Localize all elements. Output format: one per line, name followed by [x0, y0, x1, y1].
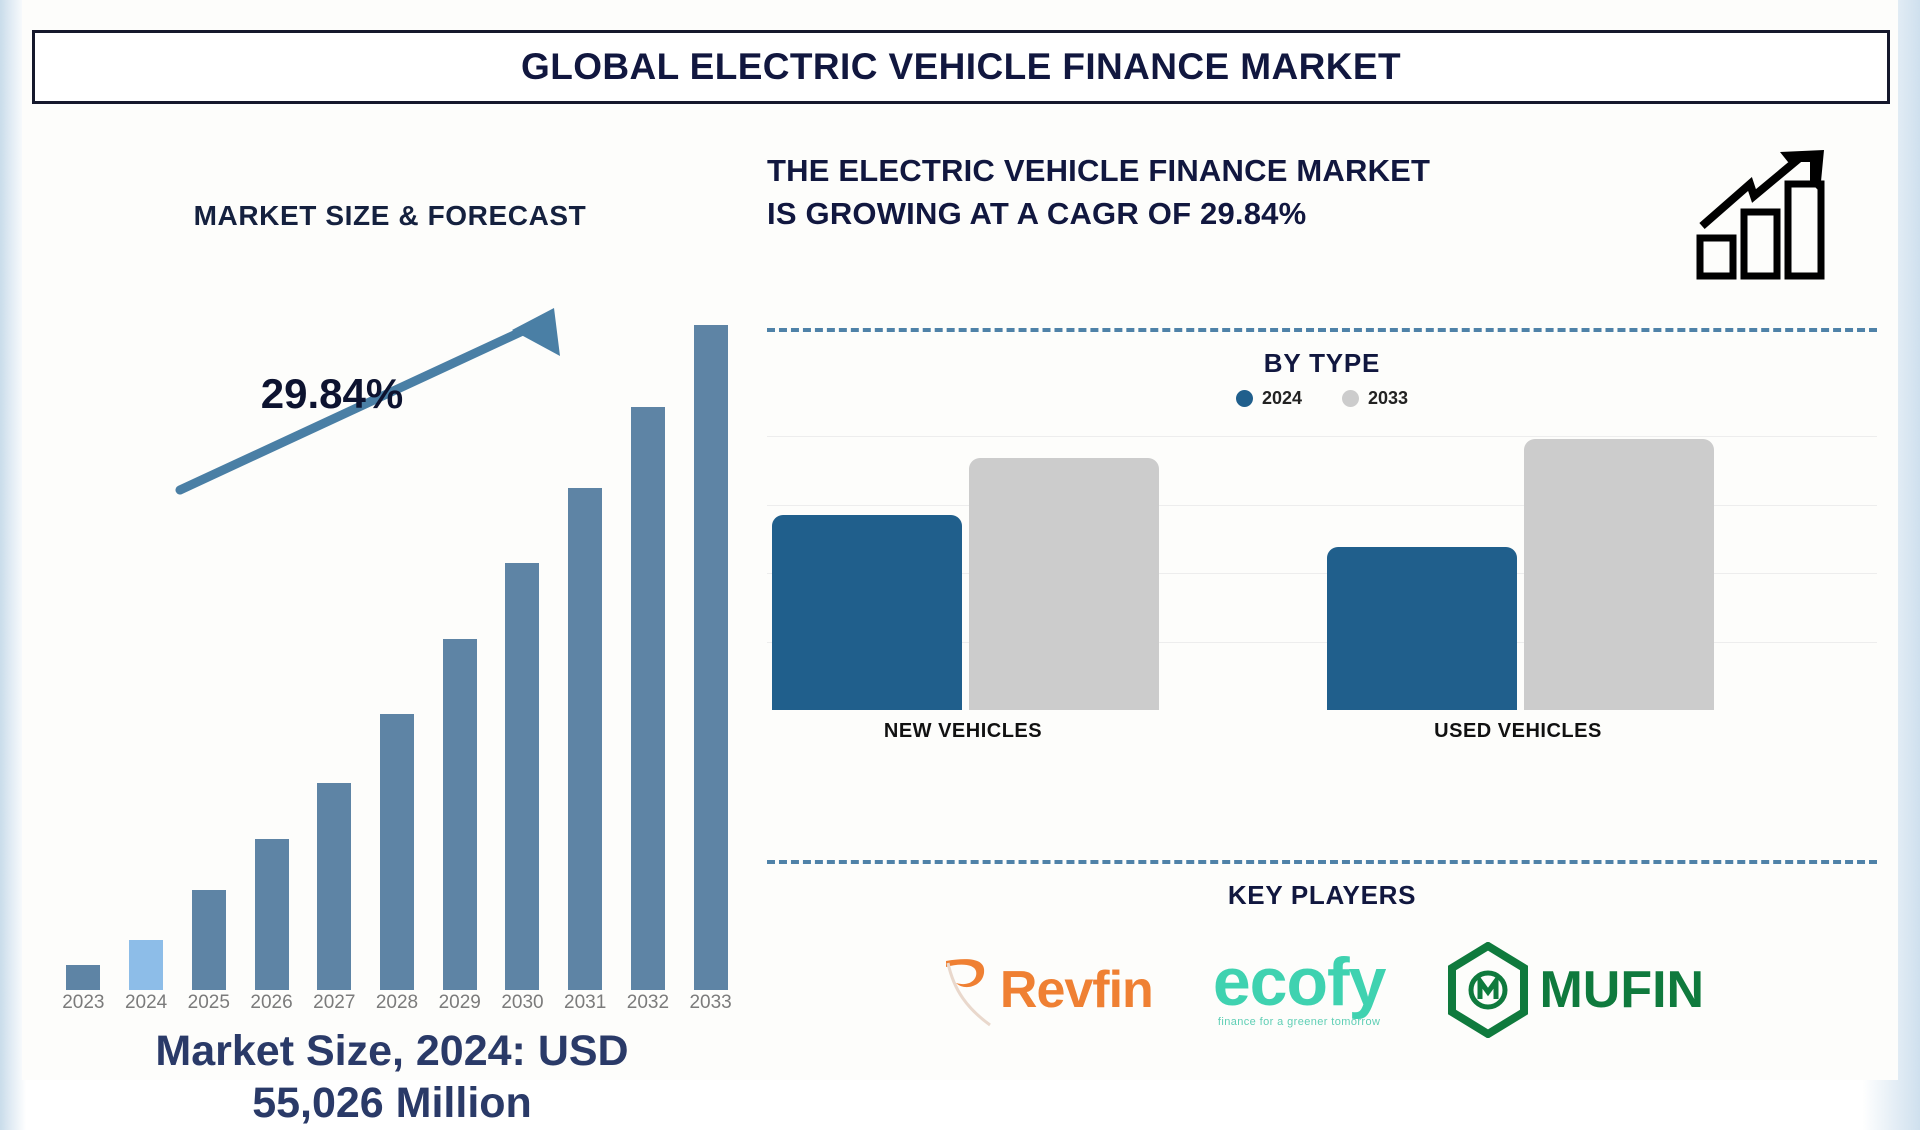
- forecast-year-axis: 2023202420252026202720282029203020312032…: [52, 992, 742, 1022]
- legend-label: 2024: [1262, 388, 1302, 409]
- legend-dot-2024: [1236, 390, 1253, 407]
- legend-item-2024[interactable]: 2024: [1236, 388, 1302, 409]
- forecast-bar-2032: [631, 407, 665, 990]
- year-label-2031: 2031: [557, 992, 613, 1014]
- by-type-bar-used-vehicles-2024: [1327, 547, 1517, 710]
- forecast-bar-2029: [443, 639, 477, 990]
- year-label-2026: 2026: [244, 992, 300, 1014]
- bar-chart-growth-arrow-icon: [1692, 140, 1842, 280]
- key-players-title: KEY PLAYERS: [767, 880, 1877, 911]
- bar-rect: [443, 639, 477, 990]
- divider-bottom: [767, 860, 1877, 864]
- market-size-value: Market Size, 2024: USD 55,026 Million: [52, 1025, 732, 1130]
- infographic-canvas: GLOBAL ELECTRIC VEHICLE FINANCE MARKET M…: [22, 0, 1898, 1080]
- by-type-legend: 20242033: [767, 388, 1877, 409]
- page-title-box: GLOBAL ELECTRIC VEHICLE FINANCE MARKET: [32, 30, 1890, 104]
- forecast-bar-2024: [129, 940, 163, 990]
- year-label-2032: 2032: [620, 992, 676, 1014]
- by-type-bar-chart: [767, 425, 1877, 710]
- forecast-bar-2031: [568, 488, 602, 990]
- forecast-bar-2030: [505, 563, 539, 990]
- legend-dot-2033: [1342, 390, 1359, 407]
- forecast-bar-2028: [380, 714, 414, 990]
- market-size-value-line1: Market Size, 2024: USD: [155, 1027, 628, 1075]
- logo-revfin-label: Revfin: [1000, 960, 1153, 1020]
- logo-revfin[interactable]: Revfin: [940, 947, 1153, 1033]
- year-label-2029: 2029: [432, 992, 488, 1014]
- legend-label: 2033: [1368, 388, 1408, 409]
- market-size-value-line2: 55,026 Million: [252, 1079, 532, 1127]
- forecast-bar-2025: [192, 890, 226, 990]
- logo-ecofy-tagline: finance for a greener tomorrow: [1218, 1016, 1380, 1028]
- by-type-category-axis: NEW VEHICLESUSED VEHICLES: [767, 720, 1877, 760]
- year-label-2023: 2023: [55, 992, 111, 1014]
- logo-ecofy-label: ecofy: [1213, 952, 1386, 1013]
- bar-rect: [568, 488, 602, 990]
- cagr-headline: THE ELECTRIC VEHICLE FINANCE MARKET IS G…: [767, 150, 1667, 236]
- bar-rect: [317, 783, 351, 990]
- page-title: GLOBAL ELECTRIC VEHICLE FINANCE MARKET: [521, 46, 1401, 88]
- bar-rect: [129, 940, 163, 990]
- bar-rect: [631, 407, 665, 990]
- year-label-2033: 2033: [683, 992, 739, 1014]
- year-label-2025: 2025: [181, 992, 237, 1014]
- forecast-bar-chart: [52, 300, 742, 990]
- bar-rect: [694, 325, 728, 990]
- legend-item-2033[interactable]: 2033: [1342, 388, 1408, 409]
- market-size-forecast-panel: MARKET SIZE & FORECAST 29.84% 2023202420…: [22, 120, 762, 1070]
- year-label-2030: 2030: [494, 992, 550, 1014]
- year-label-2027: 2027: [306, 992, 362, 1014]
- bar-rect: [255, 839, 289, 990]
- by-type-title: BY TYPE: [767, 348, 1877, 379]
- bar-rect: [380, 714, 414, 990]
- mufin-hexagon-m-icon: [1445, 942, 1531, 1038]
- bar-rect: [505, 563, 539, 990]
- by-type-bar-used-vehicles-2033: [1524, 439, 1714, 710]
- logo-mufin-label: MUFIN: [1539, 960, 1704, 1020]
- forecast-bar-2026: [255, 839, 289, 990]
- forecast-bar-2027: [317, 783, 351, 990]
- logo-mufin[interactable]: MUFIN: [1445, 942, 1704, 1038]
- right-panel: THE ELECTRIC VEHICLE FINANCE MARKET IS G…: [767, 120, 1892, 1075]
- gridline: [767, 436, 1877, 437]
- category-label-used-vehicles: USED VEHICLES: [1322, 720, 1714, 743]
- category-label-new-vehicles: NEW VEHICLES: [767, 720, 1159, 743]
- divider-top: [767, 328, 1877, 332]
- bar-rect: [192, 890, 226, 990]
- logo-ecofy[interactable]: ecofy finance for a greener tomorrow: [1213, 952, 1386, 1027]
- year-label-2028: 2028: [369, 992, 425, 1014]
- forecast-bar-2023: [66, 965, 100, 990]
- by-type-bar-new-vehicles-2033: [969, 458, 1159, 710]
- cagr-headline-line2: IS GROWING AT A CAGR OF 29.84%: [767, 196, 1306, 231]
- year-label-2024: 2024: [118, 992, 174, 1014]
- cagr-headline-line1: THE ELECTRIC VEHICLE FINANCE MARKET: [767, 153, 1430, 188]
- market-size-heading: MARKET SIZE & FORECAST: [140, 200, 640, 232]
- by-type-bar-new-vehicles-2024: [772, 515, 962, 710]
- bar-rect: [66, 965, 100, 990]
- forecast-bar-2033: [694, 325, 728, 990]
- key-players-logos: Revfin ecofy finance for a greener tomor…: [767, 925, 1877, 1055]
- revfin-swoosh-icon: [940, 947, 998, 1033]
